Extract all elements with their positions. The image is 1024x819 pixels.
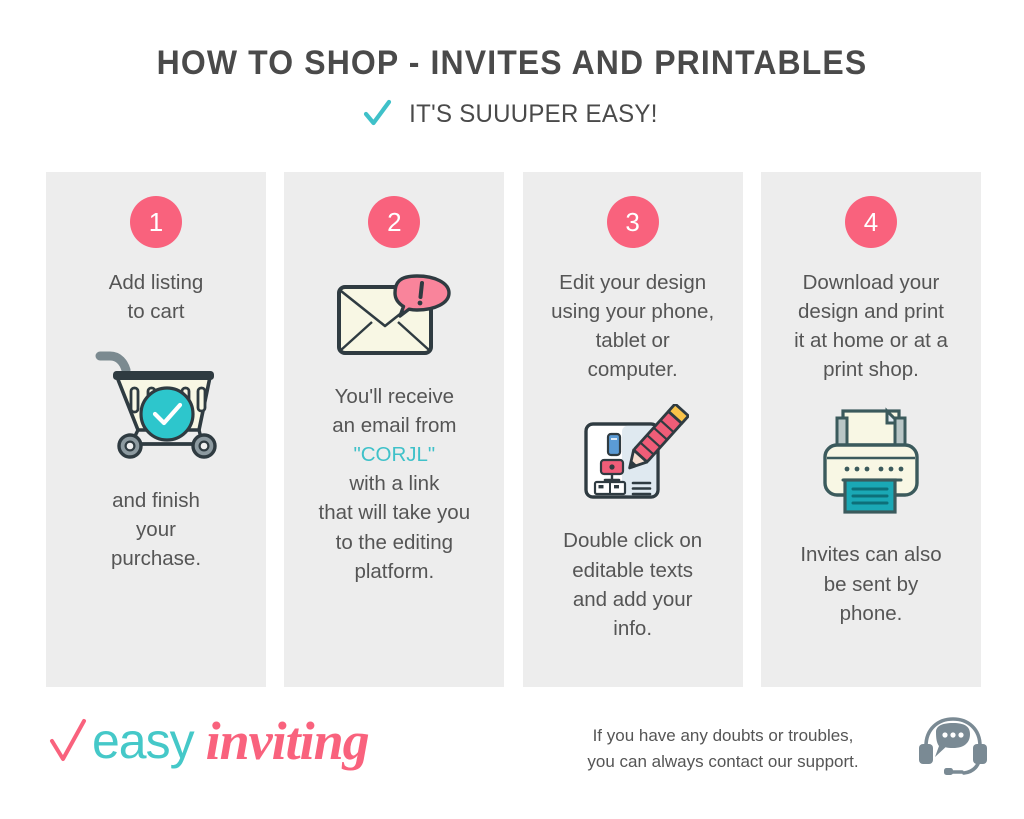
step-2-line-6: platform. (294, 557, 494, 586)
logo-word-easy: easy (92, 712, 194, 770)
check-mark-icon (362, 99, 392, 129)
step-card-2: 2 You'll receive an email from "CORJ (284, 172, 504, 687)
footer: easy inviting If you have any doubts or … (0, 690, 1024, 819)
support-line-2: you can always contact our support. (558, 749, 888, 775)
page-title: HOW TO SHOP - INVITES AND PRINTABLES (31, 0, 994, 83)
infographic-page: HOW TO SHOP - INVITES AND PRINTABLES IT'… (0, 0, 1024, 819)
support-block: If you have any doubts or troubles, you … (520, 714, 990, 784)
step-card-1: 1 Add listing to cart (46, 172, 266, 687)
step-3-text-bottom: Double click on editable texts and add y… (533, 526, 733, 642)
step-4-text-top: Download your design and print it at hom… (771, 268, 971, 384)
step-number-badge-4: 4 (845, 196, 897, 248)
envelope-notification-icon (334, 270, 454, 358)
step-2-body: You'll receive an email from "CORJL" wit… (294, 382, 494, 586)
step-card-4: 4 Download your design and print it at h… (761, 172, 981, 687)
step-2-line-1: You'll receive (294, 382, 494, 411)
brand-logo: easy inviting (48, 710, 369, 772)
step-2-line-4: that will take you (294, 498, 494, 527)
step-1-text-top: Add listing to cart (56, 268, 256, 326)
step-number-badge-1: 1 (130, 196, 182, 248)
support-line-1: If you have any doubts or troubles, (558, 723, 888, 749)
step-2-line-5: to the editing (294, 528, 494, 557)
logo-word-inviting: inviting (206, 710, 369, 772)
step-1-text-bottom: and finish your purchase. (56, 486, 256, 573)
step-card-3: 3 Edit your design using your phone, tab… (523, 172, 743, 687)
step-2-line-3: with a link (294, 469, 494, 498)
step-2-line-2: an email from (294, 411, 494, 440)
support-text: If you have any doubts or troubles, you … (558, 723, 888, 776)
shopping-cart-icon (90, 344, 222, 460)
card-with-pencil-icon (577, 404, 689, 504)
step-3-text-top: Edit your design using your phone, table… (533, 268, 733, 384)
steps-container: 1 Add listing to cart (46, 172, 981, 687)
header: HOW TO SHOP - INVITES AND PRINTABLES IT'… (0, 0, 1024, 129)
step-2-highlight-corjl: "CORJL" (294, 440, 494, 469)
step-number-badge-3: 3 (607, 196, 659, 248)
printer-icon (817, 406, 925, 514)
check-mark-icon (48, 715, 88, 767)
page-subtitle: IT'S SUUUPER EASY! (409, 100, 657, 129)
headset-support-icon (916, 714, 990, 784)
step-4-text-bottom: Invites can also be sent by phone. (771, 540, 971, 627)
step-number-badge-2: 2 (368, 196, 420, 248)
subtitle-row: IT'S SUUUPER EASY! (0, 99, 1024, 129)
